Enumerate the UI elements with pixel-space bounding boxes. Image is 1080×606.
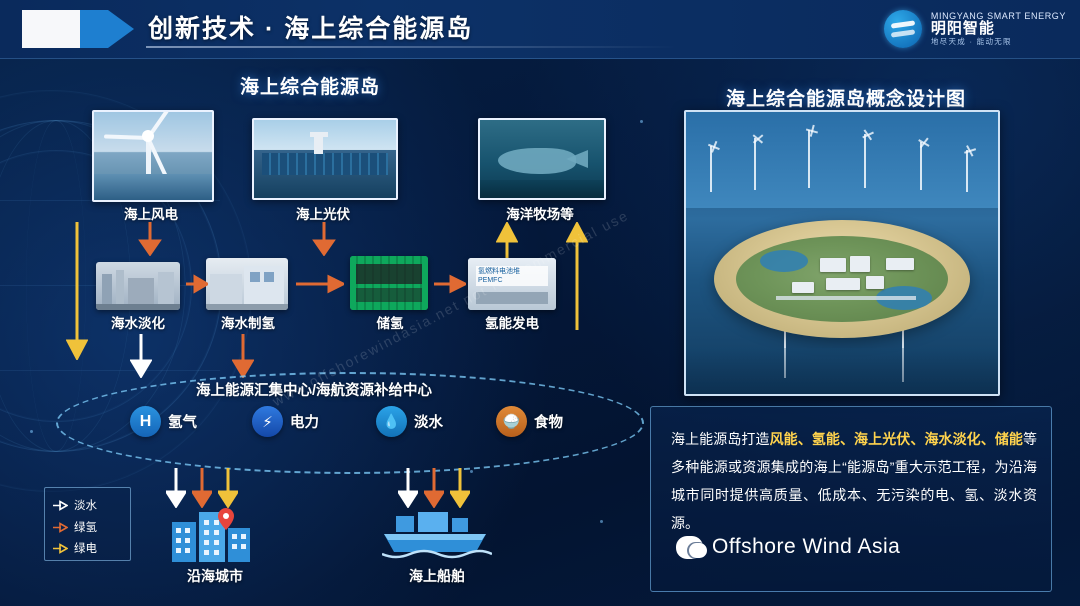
hub-item-freshwater: 💧 淡水: [376, 406, 443, 437]
render-turbine: [862, 134, 874, 188]
arrow-h2-to-hub: [232, 334, 254, 378]
process-caption-1: 海水制氢: [200, 312, 296, 332]
hub-item-hydrogen: H 氢气: [130, 406, 197, 437]
legend-row-greenhydrogen: 绿氢: [52, 519, 97, 535]
hydrogen-storage-container-image: [350, 256, 428, 310]
arrow-power-to-marine-ranch: [566, 222, 588, 330]
process-caption-0: 海水淡化: [88, 312, 188, 332]
hub-label-electricity: 电力: [290, 411, 319, 432]
wechat-icon: [676, 536, 703, 559]
hydrogen-production-plant-image: [206, 258, 288, 310]
wechat-label: Offshore Wind Asia: [712, 535, 900, 559]
consumer-caption-city: 沿海城市: [166, 566, 264, 586]
hydrogen-icon: H: [130, 406, 161, 437]
render-turbine: [918, 142, 930, 190]
decorative-dot: [30, 430, 33, 433]
source-caption-0: 海上风电: [92, 203, 210, 223]
source-caption-1: 海上光伏: [252, 203, 394, 223]
decorative-dot: [600, 520, 603, 523]
legend-arrow-icon: [52, 522, 68, 533]
hub-label-food: 食物: [534, 411, 563, 432]
company-logo: MINGYANG SMART ENERGY 明阳智能 地尽天成 · 能动无限: [884, 8, 1066, 50]
logo-cn-name: 明阳智能: [931, 21, 1066, 38]
source-caption-2: 海洋牧场等: [478, 203, 602, 223]
slide-header: 创新技术 · 海上综合能源岛 MINGYANG SMART ENERGY 明阳智…: [0, 0, 1080, 59]
hub-item-food: 🍚 食物: [496, 406, 563, 437]
island-interior: [736, 236, 948, 322]
legend-label-greenhydrogen: 绿氢: [74, 519, 97, 535]
arrow-hub-to-city-power: [218, 468, 238, 508]
arrow-hub-to-city-water: [166, 468, 186, 508]
coastal-city-icon: [168, 508, 262, 562]
arrow-desal-to-hub: [130, 334, 152, 378]
offshore-vessel-icon: [382, 510, 492, 562]
food-bag-icon: 🍚: [496, 406, 527, 437]
island-lagoon: [760, 250, 808, 272]
decorative-latitude: [0, 370, 220, 371]
legend-row-greenpower: 绿电: [52, 540, 97, 556]
hub-title: 海上能源汇集中心/海航资源补给中心: [196, 379, 432, 400]
page-title: 创新技术 · 海上综合能源岛: [148, 9, 473, 45]
arrow-h2-to-storage: [296, 274, 344, 294]
description-part-1: 风能、氢能、海上光伏、海水淡化、储能: [770, 431, 1023, 447]
offshore-pv-photo: [252, 118, 398, 200]
legend-box: 淡水 绿氢 绿电: [44, 487, 131, 561]
legend-label-greenpower: 绿电: [74, 540, 97, 556]
arrow-green-power-rail: [66, 222, 88, 360]
fuel-cell-badge: 氢燃料电池堆 PEMFC: [478, 268, 546, 286]
arrow-fuelcell-up: [496, 222, 518, 262]
process-caption-2: 储氢: [352, 312, 428, 332]
render-turbine: [806, 130, 818, 188]
left-section-title: 海上综合能源岛: [240, 72, 380, 99]
legend-arrow-icon: [52, 543, 68, 554]
island-landmass: [714, 220, 970, 338]
hub-label-freshwater: 淡水: [414, 411, 443, 432]
slide-root: 创新技术 · 海上综合能源岛 MINGYANG SMART ENERGY 明阳智…: [0, 0, 1080, 606]
marine-ranch-photo: [478, 118, 606, 200]
electricity-bolt-icon: ⚡: [252, 406, 283, 437]
arrow-hub-to-vessel-hydrogen: [424, 468, 444, 508]
render-turbine: [708, 146, 720, 192]
hub-item-electricity: ⚡ 电力: [252, 406, 319, 437]
logo-mark-icon: [884, 10, 922, 48]
render-turbine: [752, 138, 764, 190]
hub-label-hydrogen: 氢气: [168, 411, 197, 432]
arrow-desal-to-h2: [186, 274, 208, 294]
description-text: 海上能源岛打造风能、氢能、海上光伏、海水淡化、储能等多种能源或资源集成的海上“能…: [671, 425, 1037, 537]
wechat-credit: Offshore Wind Asia: [676, 535, 900, 559]
offshore-wind-photo: [92, 110, 214, 202]
fresh-water-drop-icon: 💧: [376, 406, 407, 437]
description-part-0: 海上能源岛打造: [671, 431, 770, 447]
offshore-energy-island-render: [684, 110, 1000, 396]
right-section-title: 海上综合能源岛概念设计图: [726, 84, 966, 111]
process-caption-3: 氢能发电: [462, 312, 562, 332]
title-underline: [146, 46, 676, 48]
legend-row-freshwater: 淡水: [52, 497, 97, 513]
legend-arrow-icon: [52, 500, 68, 511]
header-chevron-icon: [22, 8, 134, 50]
legend-label-freshwater: 淡水: [74, 497, 97, 513]
arrow-hub-to-city-hydrogen: [192, 468, 212, 508]
description-panel: 海上能源岛打造风能、氢能、海上光伏、海水淡化、储能等多种能源或资源集成的海上“能…: [650, 406, 1052, 592]
fuel-cell-unit-image: 氢燃料电池堆 PEMFC: [468, 258, 556, 310]
desalination-plant-image: [96, 262, 180, 310]
decorative-dot: [640, 120, 643, 123]
arrow-pv-to-h2: [312, 222, 336, 256]
consumer-caption-vessel: 海上船舶: [382, 566, 492, 586]
arrow-storage-to-fuelcell: [434, 274, 466, 294]
arrow-hub-to-vessel-water: [398, 468, 418, 508]
logo-slogan: 地尽天成 · 能动无限: [931, 38, 1066, 46]
arrow-hub-to-vessel-power: [450, 468, 470, 508]
arrow-wind-to-desal: [138, 222, 162, 256]
render-turbine: [964, 150, 976, 192]
decorative-dot: [470, 470, 473, 473]
